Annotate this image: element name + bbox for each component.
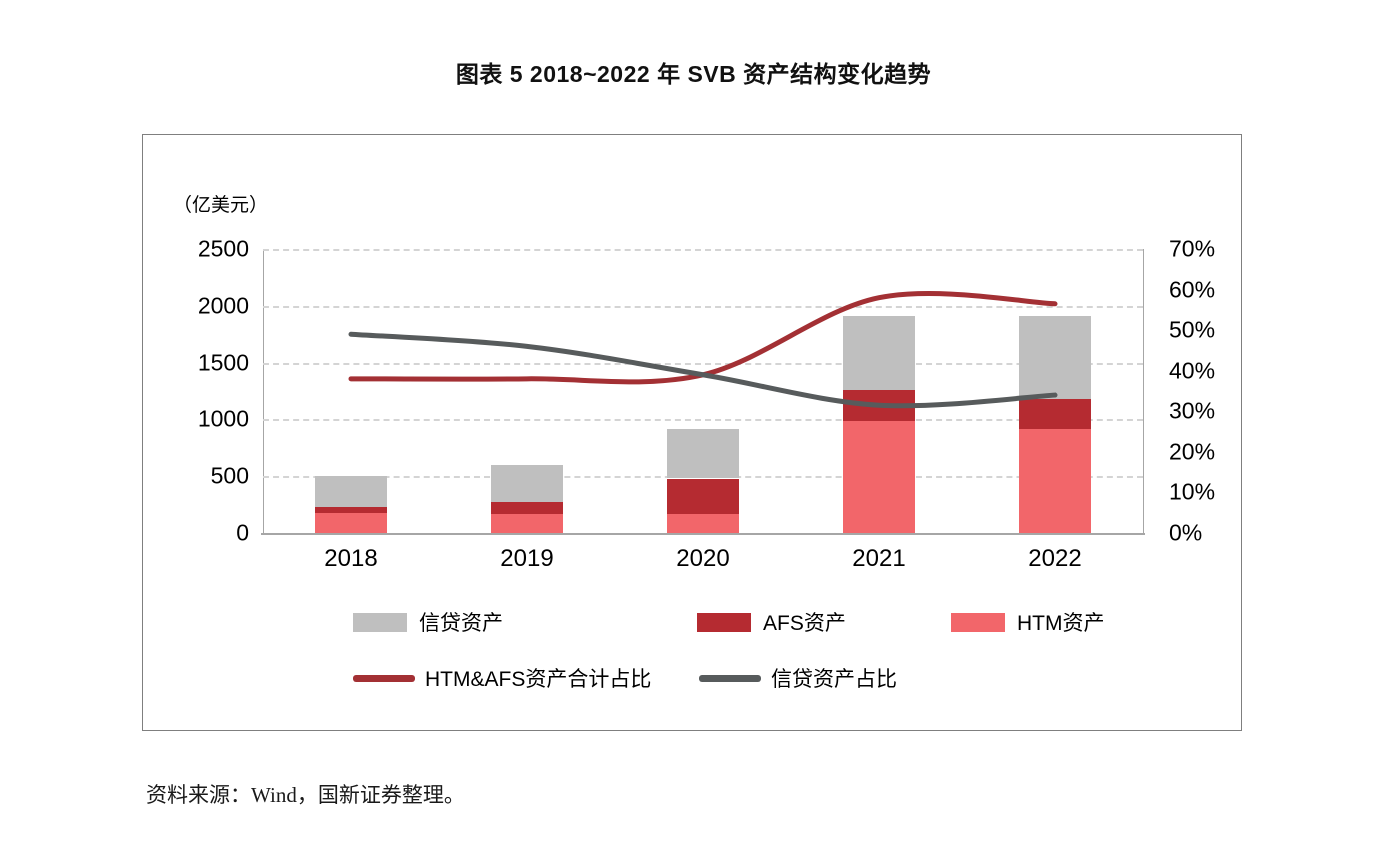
plot-area: 2500 2000 1500 1000 500 0 70% 60% 50% 40… [263,249,1143,533]
bar-segment-信贷资产 [315,476,387,507]
x-tick-2022: 2022 [1028,545,1081,573]
y-axis-right-line [1143,249,1144,533]
legend-swatch-htm-afs-ratio-icon [353,675,415,682]
y-tick-left-2: 1500 [198,349,249,376]
bar-segment-AFS资产 [491,502,563,513]
x-axis-line [261,533,1145,535]
legend-item-loan-assets[interactable]: 信贷资产 [353,607,503,637]
y-tick-left-5: 0 [236,520,249,547]
bar-segment-AFS资产 [667,479,739,514]
page-title: 图表 5 2018~2022 年 SVB 资产结构变化趋势 [0,55,1387,89]
y-tick-right-0: 70% [1169,236,1215,263]
x-tick-2021: 2021 [852,545,905,573]
bar-2021[interactable] [843,249,915,533]
bar-segment-信贷资产 [843,316,915,390]
y-axis-unit-label: （亿美元） [173,190,268,217]
source-note: 资料来源：Wind，国新证券整理。 [146,779,465,809]
bar-segment-HTM资产 [1019,429,1091,534]
y-tick-right-6: 10% [1169,479,1215,506]
legend-label-htm-afs-ratio: HTM&AFS资产合计占比 [425,663,651,693]
y-axis-left-line [263,249,264,533]
bar-segment-信贷资产 [1019,316,1091,399]
y-tick-left-3: 1000 [198,406,249,433]
y-tick-right-1: 60% [1169,276,1215,303]
x-tick-2019: 2019 [500,545,553,573]
bar-segment-HTM资产 [667,514,739,533]
y-tick-right-4: 30% [1169,398,1215,425]
y-tick-right-5: 20% [1169,438,1215,465]
legend-item-loan-ratio[interactable]: 信贷资产占比 [699,663,897,693]
legend-item-afs-assets[interactable]: AFS资产 [697,607,846,637]
bar-2018[interactable] [315,249,387,533]
x-tick-2020: 2020 [676,545,729,573]
legend-row-2: HTM&AFS资产合计占比 信贷资产占比 [143,663,1243,697]
y-tick-left-0: 2500 [198,236,249,263]
legend-swatch-loan-icon [353,613,407,632]
bar-segment-HTM资产 [315,513,387,533]
legend-swatch-afs-icon [697,613,751,632]
y-tick-left-1: 2000 [198,292,249,319]
legend-swatch-htm-icon [951,613,1005,632]
legend-label-afs-assets: AFS资产 [763,607,846,637]
legend-label-loan-ratio: 信贷资产占比 [771,663,897,693]
bar-segment-AFS资产 [843,390,915,421]
legend-swatch-loan-ratio-icon [699,675,761,682]
bar-2020[interactable] [667,249,739,533]
legend-item-htm-afs-ratio[interactable]: HTM&AFS资产合计占比 [353,663,651,693]
bar-segment-AFS资产 [315,507,387,513]
legend-row-1: 信贷资产 AFS资产 HTM资产 [143,607,1243,641]
bar-2022[interactable] [1019,249,1091,533]
legend-item-htm-assets[interactable]: HTM资产 [951,607,1105,637]
bar-segment-AFS资产 [1019,399,1091,429]
y-tick-left-4: 500 [211,463,249,490]
chart-container: （亿美元） 2500 2000 1500 1000 500 0 70% 60% … [142,134,1242,731]
y-tick-right-2: 50% [1169,317,1215,344]
bar-segment-信贷资产 [667,429,739,479]
legend-label-htm-assets: HTM资产 [1017,607,1105,637]
y-tick-right-7: 0% [1169,520,1202,547]
bar-segment-信贷资产 [491,465,563,502]
bar-2019[interactable] [491,249,563,533]
bar-segment-HTM资产 [491,514,563,533]
y-tick-right-3: 40% [1169,357,1215,384]
legend-label-loan-assets: 信贷资产 [419,607,503,637]
x-tick-2018: 2018 [324,545,377,573]
bar-segment-HTM资产 [843,421,915,533]
